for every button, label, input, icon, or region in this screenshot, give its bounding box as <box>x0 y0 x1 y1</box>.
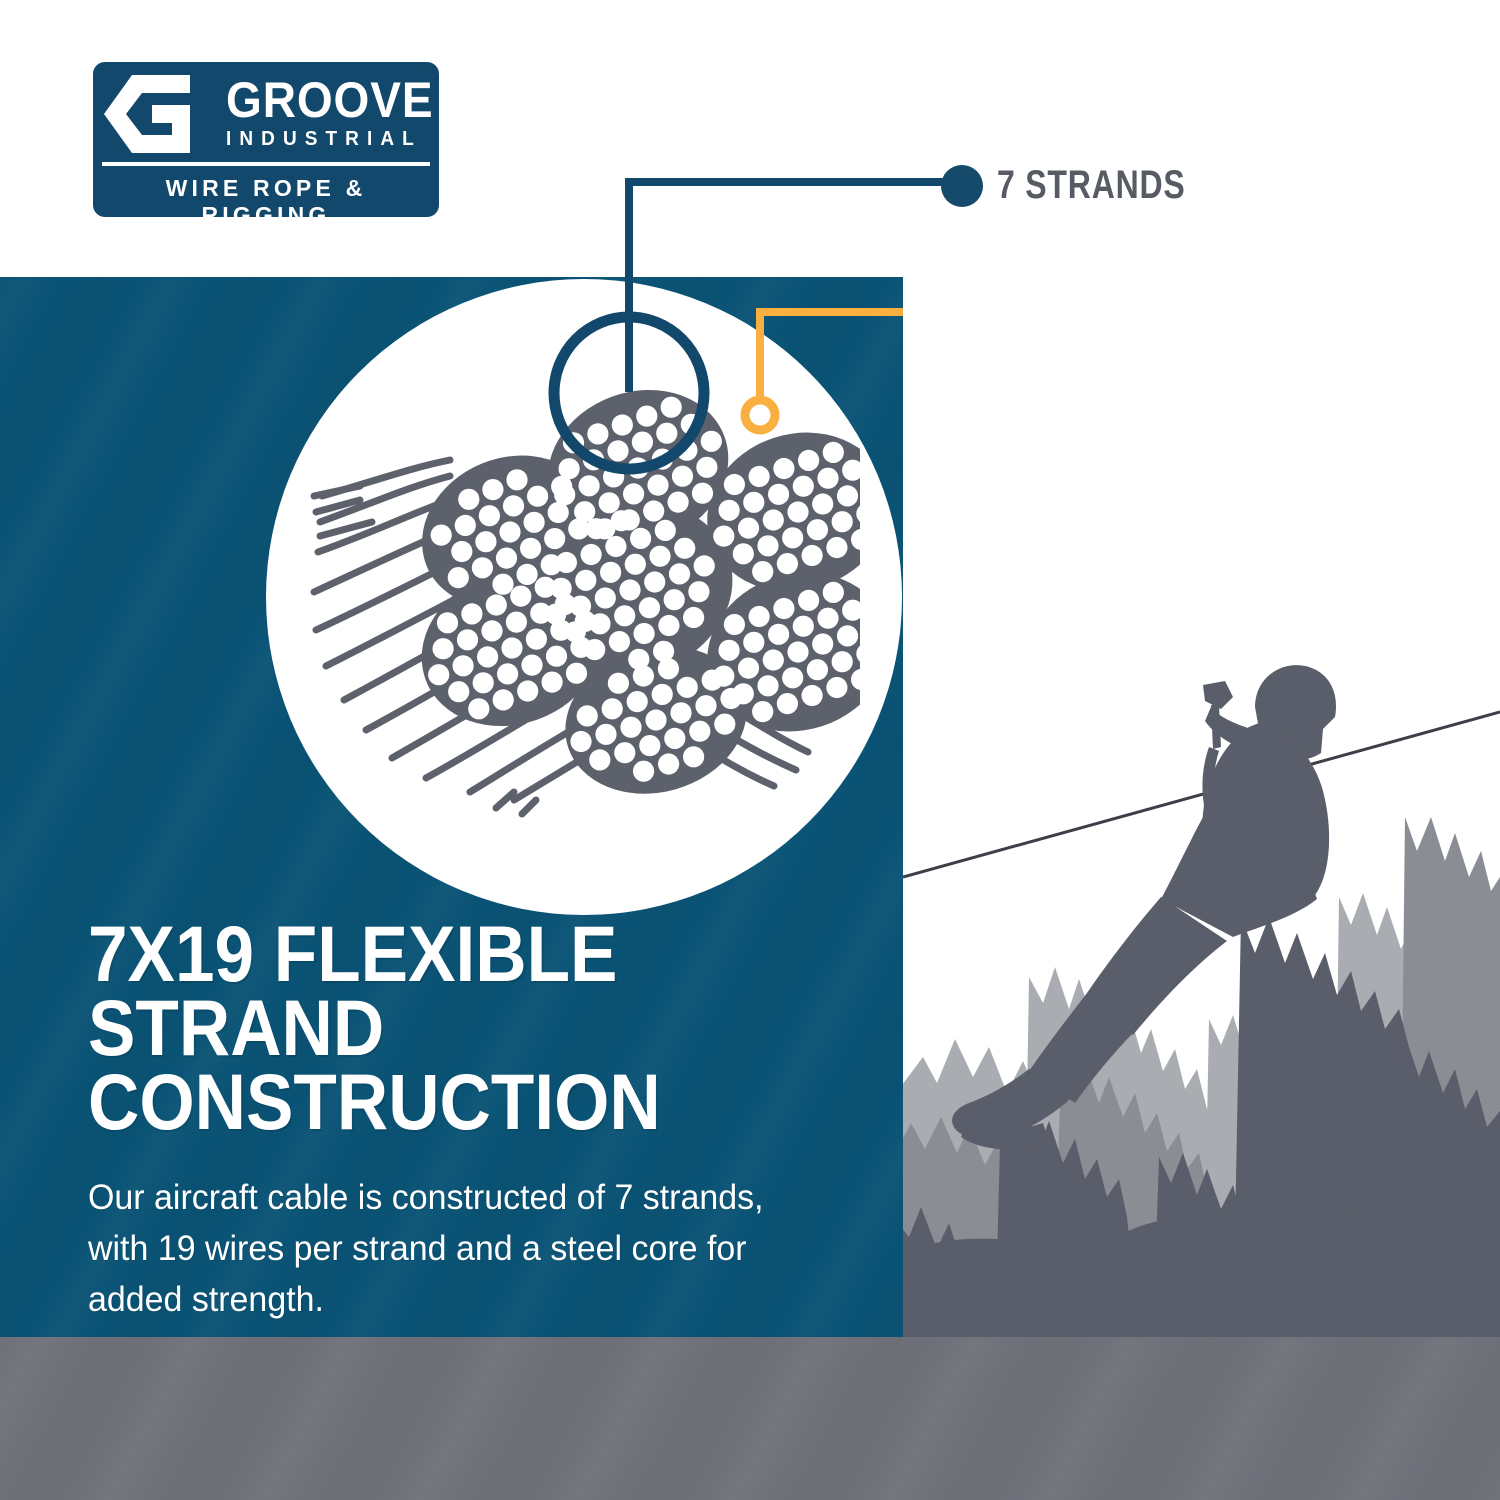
logo-brand-primary: GROOVE <box>226 77 433 124</box>
callout-label-strands: 7 STRANDS <box>997 163 1186 208</box>
headline-block: 7X19 FLEXIBLE STRAND CONSTRUCTION Our ai… <box>88 917 878 1325</box>
title-line-1: 7X19 FLEXIBLE <box>88 917 799 991</box>
groove-g-hexagon-icon <box>102 71 212 157</box>
logo-brand-secondary: INDUSTRIAL <box>226 128 440 151</box>
zipline-photo-scene <box>903 277 1500 1337</box>
infographic-canvas: 7 STRANDS 19 WIRES PER STRAND HOT DIP GA… <box>0 0 1500 1500</box>
callout-dot-navy-icon <box>941 165 983 207</box>
logo-tagline: WIRE ROPE & RIGGING <box>102 166 430 229</box>
body-copy: Our aircraft cable is constructed of 7 s… <box>88 1172 825 1325</box>
callout-strands: 7 STRANDS <box>941 163 1233 208</box>
brand-logo[interactable]: GROOVE INDUSTRIAL WIRE ROPE & RIGGING <box>93 62 439 217</box>
bottom-wave-texture <box>0 1337 1500 1500</box>
bottom-gray-bar <box>0 1337 1500 1500</box>
wire-rope-illustration <box>300 300 860 820</box>
page-title: 7X19 FLEXIBLE STRAND CONSTRUCTION <box>88 917 799 1139</box>
title-line-2: STRAND CONSTRUCTION <box>88 991 799 1139</box>
